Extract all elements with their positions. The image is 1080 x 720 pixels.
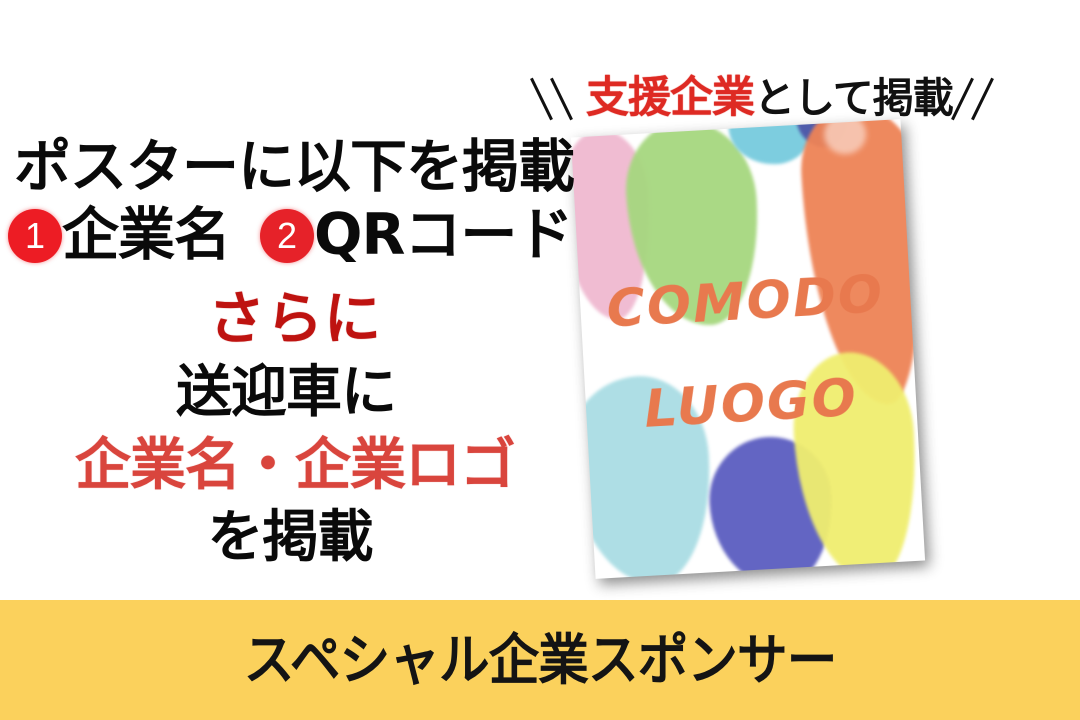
poster-photo: COMODO LUOGO: [571, 119, 925, 579]
listing-items: 1 企業名 2 QRコード: [8, 207, 572, 264]
circled-number-1-icon: 1: [8, 209, 62, 263]
banner-headline: 支援企業 として掲載: [528, 66, 1080, 130]
listing-item-1-label: 企業名: [62, 207, 230, 264]
promo-slide: 支援企業 として掲載 ポスターに以下を掲載 1 企業名 2 QRコード さらに …: [0, 0, 1080, 720]
emphasis-text: さらに: [0, 290, 590, 347]
banner-highlight-text: 支援企業: [586, 77, 754, 120]
slash-right-icon: [953, 72, 1011, 124]
poster-canvas: COMODO LUOGO: [571, 119, 925, 579]
vehicle-line-text: 送迎車に: [0, 365, 572, 421]
banner-rest-text: として掲載: [754, 78, 953, 119]
headline-poster-listing: ポスターに以下を掲載: [14, 139, 574, 196]
circled-number-2-icon: 2: [260, 209, 314, 263]
highlight-line-text: 企業名・企業ロゴ: [0, 438, 590, 494]
slash-left-icon: [528, 72, 586, 124]
closing-line-text: を掲載: [0, 510, 580, 566]
listing-item-2-label: QRコード: [314, 207, 572, 264]
footer-label: スペシャル企業スポンサー: [244, 633, 837, 688]
footer-bar: スペシャル企業スポンサー: [0, 600, 1080, 720]
